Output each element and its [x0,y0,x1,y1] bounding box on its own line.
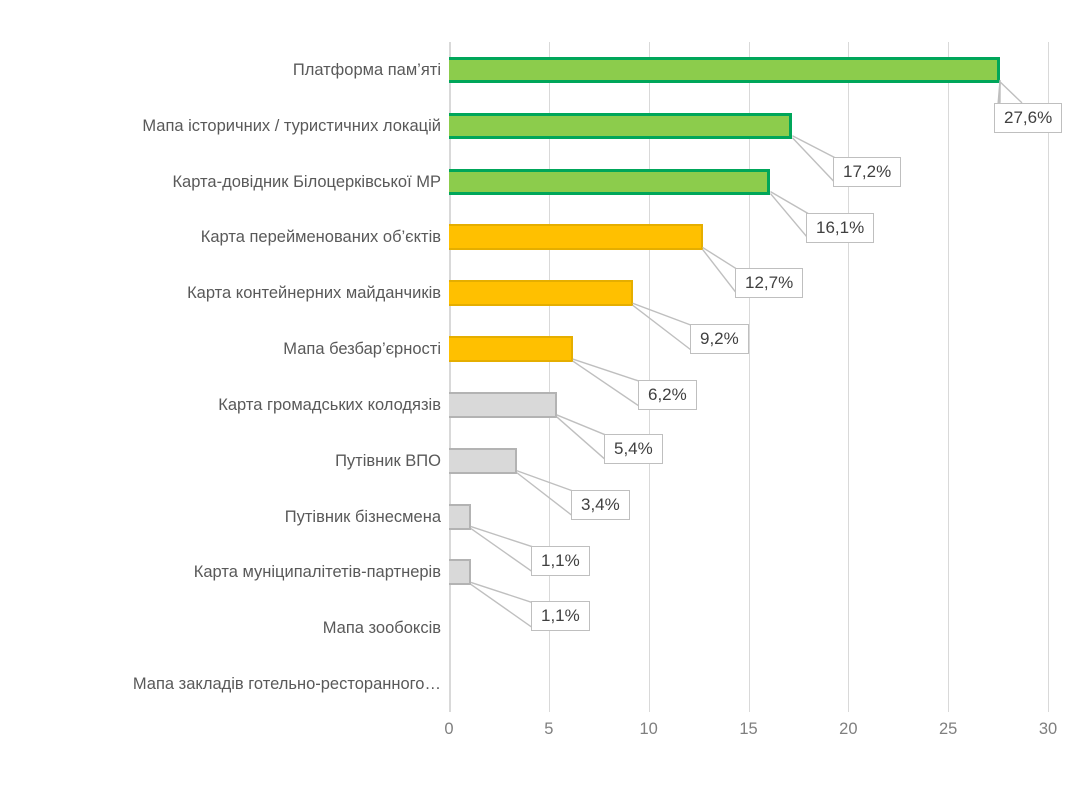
bar [449,504,471,530]
bar [449,57,1000,83]
leader-line [770,194,810,241]
leader-line [770,192,810,215]
value-axis: 051015202530 [449,712,1048,772]
gridline-15 [749,42,750,712]
data-label: 5,4% [604,434,663,464]
category-label: Мапа закладів готельно-ресторанного… [0,674,441,694]
bar [449,336,573,362]
axis-tick [749,698,750,710]
leader-line [633,305,694,352]
leader-line [792,138,837,185]
bar [449,113,792,139]
category-label: Путівник бізнесмена [0,507,441,527]
leader-line [557,417,608,462]
data-label: 17,2% [833,157,901,187]
category-label: Карта громадських колодязів [0,395,441,415]
leader-line [633,303,694,326]
category-axis: Платформа пам’ятіМапа історичних / турис… [0,42,441,712]
bar [449,559,471,585]
category-label: Мапа безбар’єрності [0,339,441,359]
leader-line [1000,82,1022,103]
axis-tick-label: 0 [444,720,453,738]
category-label: Карта перейменованих об’єктів [0,227,441,247]
data-label: 12,7% [735,268,803,298]
plot-area: 27,6%17,2%16,1%12,7%9,2%6,2%5,4%3,4%1,1%… [449,42,1048,712]
leader-line [998,80,1000,105]
data-label: 9,2% [690,324,749,354]
gridline-10 [649,42,650,712]
axis-tick-label: 5 [544,720,553,738]
axis-tick [948,698,949,710]
gridline-25 [948,42,949,712]
gridline-20 [848,42,849,712]
axis-tick-label: 30 [1039,720,1057,738]
axis-tick [848,698,849,710]
leader-line [471,584,535,629]
bar [449,392,557,418]
axis-tick-label: 10 [639,720,657,738]
bar [449,169,770,195]
gridline-30 [1048,42,1049,712]
bar [449,448,517,474]
category-label: Мапа історичних / туристичних локацій [0,116,441,136]
leader-line [517,473,575,518]
data-label: 1,1% [531,601,590,631]
axis-tick [549,698,550,710]
category-label: Платформа пам’яті [0,60,441,80]
category-label: Карта контейнерних майданчиків [0,283,441,303]
category-label: Карта муніципалітетів-партнерів [0,562,441,582]
leader-line [703,249,739,296]
axis-tick [449,698,450,710]
data-label: 1,1% [531,546,590,576]
bar [449,224,703,250]
leader-line [471,582,535,603]
data-label: 27,6% [994,103,1062,133]
axis-tick-label: 15 [739,720,757,738]
gridline-0 [449,42,451,712]
leader-line [471,527,535,548]
leader-line [471,529,535,574]
category-label: Мапа зообоксів [0,618,441,638]
axis-tick-label: 20 [839,720,857,738]
data-label: 16,1% [806,213,874,243]
category-label: Карта-довідник Білоцерківської МР [0,172,441,192]
axis-tick [649,698,650,710]
leader-line [573,361,642,408]
bar-chart: Платформа пам’ятіМапа історичних / турис… [0,0,1074,794]
category-label: Путівник ВПО [0,451,441,471]
leader-line [792,136,837,159]
leader-line [703,247,739,270]
axis-tick [1048,698,1049,710]
leader-line [557,415,608,436]
bar [449,280,633,306]
data-label: 3,4% [571,490,630,520]
data-label: 6,2% [638,380,697,410]
leader-line [573,359,642,382]
axis-tick-label: 25 [939,720,957,738]
leader-line [517,471,575,492]
